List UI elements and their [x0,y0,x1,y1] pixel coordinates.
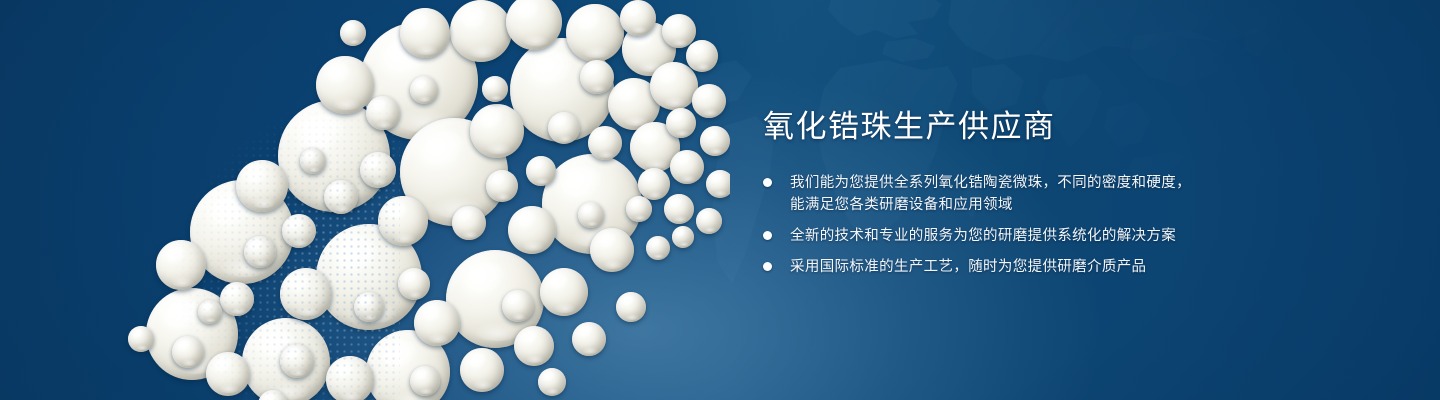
banner-copy: 氧化锆珠生产供应商 我们能为您提供全系列氧化锆陶瓷微珠，不同的密度和硬度， 能满… [763,108,1233,287]
list-item-line-2: 能满足您各类研磨设备和应用领域 [790,194,1191,216]
bead-cluster [110,0,730,400]
list-item: 采用国际标准的生产工艺，随时为您提供研磨介质产品 [763,256,1233,278]
list-item: 全新的技术和专业的服务为您的研磨提供系统化的解决方案 [763,225,1233,247]
list-item: 我们能为您提供全系列氧化锆陶瓷微珠，不同的密度和硬度， 能满足您各类研磨设备和应… [763,172,1233,216]
list-item-text: 我们能为您提供全系列氧化锆陶瓷微珠，不同的密度和硬度， 能满足您各类研磨设备和应… [790,172,1191,216]
list-item-line-1: 我们能为您提供全系列氧化锆陶瓷微珠，不同的密度和硬度， [790,175,1191,191]
bullet-dot-icon [763,178,772,187]
list-item-line-1: 采用国际标准的生产工艺，随时为您提供研磨介质产品 [790,259,1146,275]
bullet-dot-icon [763,231,772,240]
page-title: 氧化锆珠生产供应商 [763,108,1233,146]
hero-banner: 氧化锆珠生产供应商 我们能为您提供全系列氧化锆陶瓷微珠，不同的密度和硬度， 能满… [0,0,1440,400]
list-item-line-1: 全新的技术和专业的服务为您的研磨提供系统化的解决方案 [790,228,1176,244]
bullet-dot-icon [763,262,772,271]
list-item-text: 采用国际标准的生产工艺，随时为您提供研磨介质产品 [790,256,1146,278]
zirconia-beads-photo [110,0,730,400]
list-item-text: 全新的技术和专业的服务为您的研磨提供系统化的解决方案 [790,225,1176,247]
feature-list: 我们能为您提供全系列氧化锆陶瓷微珠，不同的密度和硬度， 能满足您各类研磨设备和应… [763,172,1233,278]
